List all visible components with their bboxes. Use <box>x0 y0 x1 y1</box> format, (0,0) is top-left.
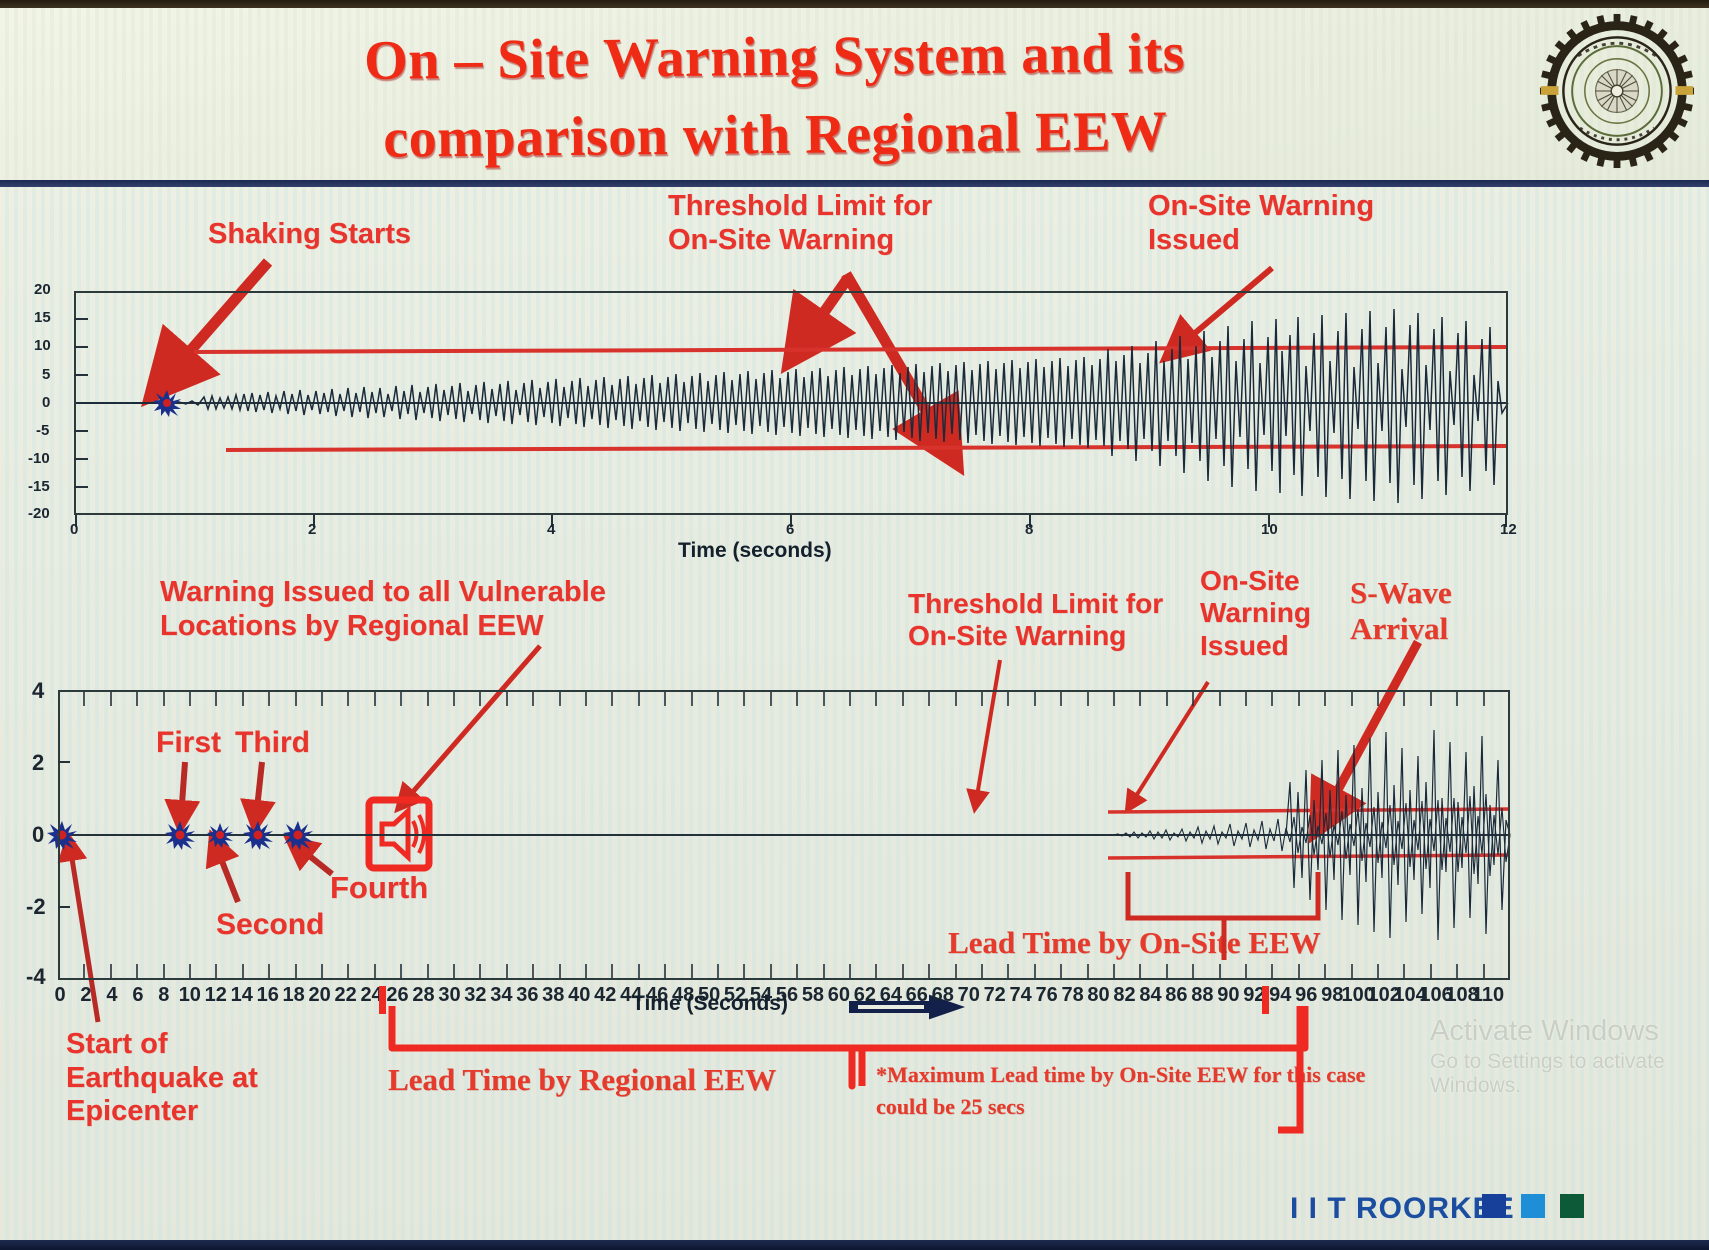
chart2-xtick-18: 18 <box>283 984 305 1007</box>
regional-vs-onsite-chart: 4 2 0 -2 -4 0246810121416182022242628303… <box>58 690 1510 980</box>
chart1-onsite-warning-issued-label: On-Site Warning Issued <box>1148 190 1374 257</box>
chart2-xaxis-title: Time (Seconds) <box>632 992 788 1016</box>
chart2-xtick-0: 0 <box>54 984 65 1007</box>
chart2-xtick-80: 80 <box>1087 984 1109 1007</box>
chart2-ytick-m2: -2 <box>26 894 46 920</box>
chart2-xtick-10: 10 <box>179 984 201 1007</box>
chart2-xtick-36: 36 <box>516 984 538 1007</box>
chart1-ytick-m20: -20 <box>28 505 50 522</box>
onsite-record-chart: 20 15 10 5 0 -5 -10 -15 -20 <box>74 291 1508 515</box>
page-title-line1: On – Site Warning System and its <box>149 12 1400 102</box>
chart2-regional-warning-label: Warning Issued to all Vulnerable Locatio… <box>160 576 606 643</box>
activate-windows-watermark-subtitle: Go to Settings to activate Windows. <box>1430 1050 1709 1098</box>
chart2-ytick-m4: -4 <box>26 964 46 990</box>
chart2-xtick-68: 68 <box>932 984 954 1007</box>
chart2-xtick-58: 58 <box>802 984 824 1007</box>
footnote-line1: *Maximum Lead time by On-Site EEW for th… <box>876 1062 1365 1088</box>
bracket-anchor-24s <box>379 986 386 1014</box>
chart1-xaxis-title: Time (seconds) <box>678 539 832 563</box>
chart2-xtick-40: 40 <box>568 984 590 1007</box>
chart2-swave-arrival-label: S-Wave Arrival <box>1350 575 1452 647</box>
chart2-xtick-22: 22 <box>334 984 356 1007</box>
chart2-lead-time-regional-label: Lead Time by Regional EEW <box>388 1062 776 1098</box>
chart2-xtick-78: 78 <box>1061 984 1083 1007</box>
bottom-frame-edge <box>0 1240 1709 1250</box>
chart2-xtick-110: 110 <box>1472 984 1504 1007</box>
chart1-xtick-4: 4 <box>547 521 555 538</box>
chart2-xtick-96: 96 <box>1295 984 1317 1007</box>
chart2-onsite-warning-issued-label: On-Site Warning Issued <box>1200 565 1311 662</box>
chart2-xtick-8: 8 <box>158 984 169 1007</box>
chart2-xtick-64: 64 <box>880 984 902 1007</box>
chart1-shaking-starts-label: Shaking Starts <box>208 218 411 252</box>
chart2-xtick-2: 2 <box>80 984 91 1007</box>
chart1-ytick-m5: -5 <box>36 422 49 439</box>
chart2-xtick-14: 14 <box>231 984 253 1007</box>
chart2-xtick-66: 66 <box>906 984 928 1007</box>
activate-windows-watermark-title: Activate Windows <box>1430 1015 1659 1048</box>
chart2-ytick-0: 0 <box>32 822 44 848</box>
chart1-ytick-m15: -15 <box>28 478 50 495</box>
chart1-ytick-marks <box>74 291 94 515</box>
footnote-line2: could be 25 secs <box>876 1094 1025 1120</box>
chart2-xtick-60: 60 <box>828 984 850 1007</box>
chart1-xtick-6: 6 <box>786 521 794 538</box>
chart2-xtick-32: 32 <box>464 984 486 1007</box>
chart2-xtick-4: 4 <box>106 984 117 1007</box>
chart1-ytick-15: 15 <box>34 309 51 326</box>
chart1-xtick-8: 8 <box>1025 521 1033 538</box>
header-divider <box>0 180 1709 187</box>
chart2-xtick-84: 84 <box>1139 984 1161 1007</box>
brand-square-1 <box>1482 1194 1506 1218</box>
brand-square-3 <box>1560 1194 1584 1218</box>
chart1-frame <box>74 291 1508 515</box>
chart1-ytick-5: 5 <box>42 366 50 383</box>
slide-header: On – Site Warning System and its compari… <box>0 8 1709 184</box>
top-frame-edge <box>0 0 1709 8</box>
chart1-xtick-10: 10 <box>1261 521 1278 538</box>
page-title-line2: comparison with Regional EEW <box>150 90 1401 180</box>
chart1-ytick-20: 20 <box>34 281 51 298</box>
chart1-ytick-10: 10 <box>34 337 51 354</box>
chart2-xtick-16: 16 <box>257 984 279 1007</box>
brand-square-2 <box>1521 1194 1545 1218</box>
page-title: On – Site Warning System and its compari… <box>149 12 1400 180</box>
chart1-ytick-0: 0 <box>42 394 50 411</box>
chart2-xtick-74: 74 <box>1010 984 1032 1007</box>
chart2-start-of-earthquake-label: Start of Earthquake at Epicenter <box>66 1028 258 1129</box>
chart2-xtick-94: 94 <box>1269 984 1291 1007</box>
chart2-xtick-72: 72 <box>984 984 1006 1007</box>
chart2-xtick-90: 90 <box>1217 984 1239 1007</box>
chart2-xtick-42: 42 <box>594 984 616 1007</box>
slide-canvas: On – Site Warning System and its compari… <box>0 0 1709 1250</box>
iit-roorkee-logo <box>1538 13 1696 169</box>
chart2-frame <box>58 690 1510 980</box>
chart2-xtick-28: 28 <box>412 984 434 1007</box>
chart2-xtick-12: 12 <box>205 984 227 1007</box>
chart2-xtick-26: 26 <box>386 984 408 1007</box>
chart2-ytick-4: 4 <box>32 678 44 704</box>
chart2-xtick-82: 82 <box>1113 984 1135 1007</box>
chart2-xtick-62: 62 <box>854 984 876 1007</box>
chart1-ytick-m10: -10 <box>28 450 50 467</box>
iit-roorkee-logo-icon <box>1538 13 1696 169</box>
chart2-ytick-marks <box>58 690 76 980</box>
chart2-xtick-76: 76 <box>1035 984 1057 1007</box>
chart2-xtick-20: 20 <box>309 984 331 1007</box>
chart1-threshold-limit-label: Threshold Limit for On-Site Warning <box>668 190 932 257</box>
chart2-xtick-30: 30 <box>438 984 460 1007</box>
chart2-xtick-98: 98 <box>1321 984 1343 1007</box>
chart2-xtick-70: 70 <box>958 984 980 1007</box>
chart1-xtick-12: 12 <box>1500 521 1517 538</box>
bracket-anchor-92s <box>1262 986 1269 1014</box>
chart2-xtick-38: 38 <box>542 984 564 1007</box>
chart2-ytick-2: 2 <box>32 750 44 776</box>
chart2-xtick-86: 86 <box>1165 984 1187 1007</box>
iit-roorkee-brand-text: I I T ROORKEE <box>1290 1192 1515 1226</box>
chart2-threshold-limit-label: Threshold Limit for On-Site Warning <box>908 588 1163 653</box>
chart1-xtick-0: 0 <box>70 521 78 538</box>
chart2-xtick-6: 6 <box>132 984 143 1007</box>
chart2-xtick-34: 34 <box>490 984 512 1007</box>
chart1-xtick-2: 2 <box>308 521 316 538</box>
chart2-xtick-88: 88 <box>1191 984 1213 1007</box>
